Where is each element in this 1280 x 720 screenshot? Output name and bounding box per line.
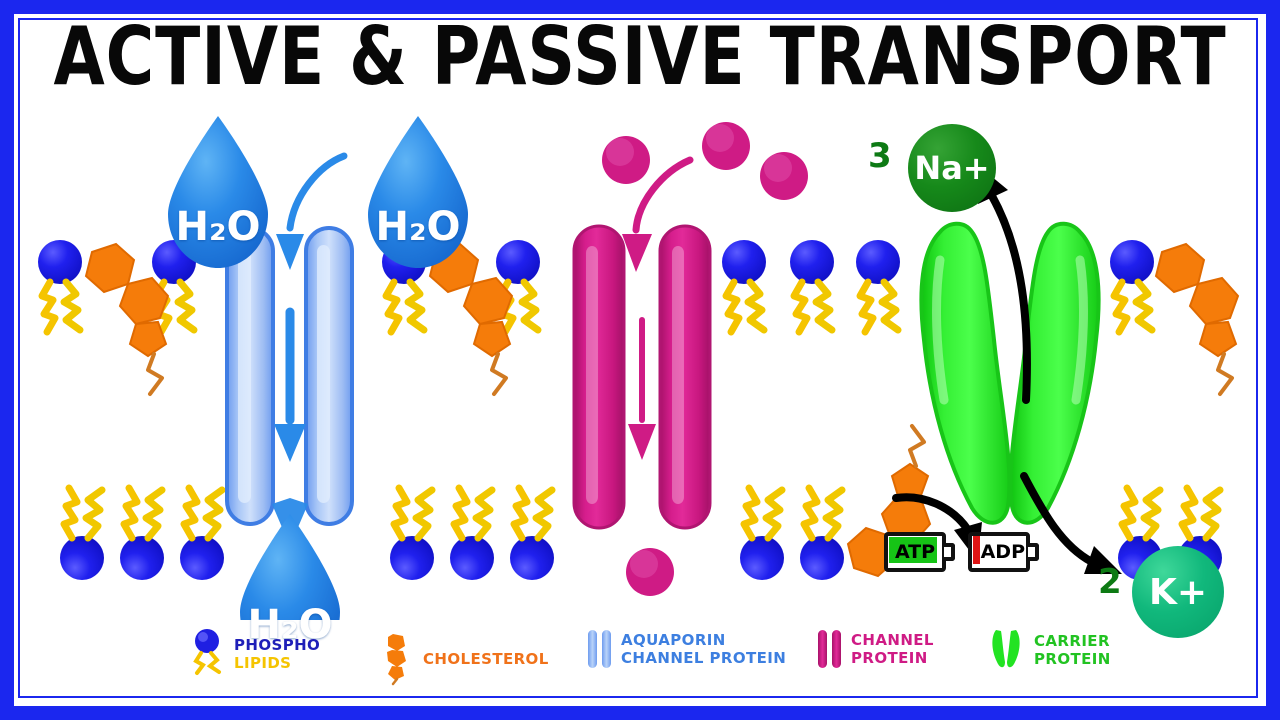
potassium-count: 2 — [1098, 562, 1122, 602]
solute-particles-top — [602, 122, 808, 200]
diagram-root: ACTIVE & PASSIVE TRANSPORT — [0, 0, 1280, 720]
legend: PHOSPHO LIPIDS CHOLESTEROL AQUAPORIN — [22, 622, 1258, 694]
bilayer-midright-upper — [722, 240, 900, 332]
legend-carrier-protein-line2: PROTEIN — [1034, 650, 1111, 668]
water-drop-top-right: H₂O — [363, 162, 473, 302]
bilayer-midright-lower — [740, 488, 844, 580]
aquaporin-icon — [588, 630, 611, 668]
atp-label: ATP — [884, 532, 946, 572]
legend-channel-protein: CHANNEL PROTEIN — [818, 630, 934, 668]
sodium-count: 3 — [868, 136, 892, 176]
legend-channel-protein-line2: PROTEIN — [851, 649, 934, 667]
sodium-ion: Na+ — [908, 124, 996, 212]
channel-protein-icon — [818, 630, 841, 668]
bilayer-midleft-lower — [390, 488, 554, 580]
legend-cholesterol: CHOLESTEROL — [379, 632, 549, 686]
legend-aquaporin: AQUAPORIN CHANNEL PROTEIN — [588, 630, 786, 668]
legend-carrier-protein-line1: CARRIER — [1034, 632, 1111, 650]
solute-particle-bottom — [626, 548, 674, 596]
atp-battery-icon: ATP — [884, 532, 956, 572]
sodium-label: Na+ — [914, 149, 989, 187]
legend-phospholipids: PHOSPHO LIPIDS — [192, 628, 320, 680]
legend-aquaporin-line1: AQUAPORIN — [621, 631, 786, 649]
legend-channel-protein-line1: CHANNEL — [851, 631, 934, 649]
phospholipid-icon — [192, 628, 226, 680]
legend-cholesterol-label: CHOLESTEROL — [423, 650, 549, 668]
legend-phospholipids-line2: LIPIDS — [234, 654, 320, 672]
potassium-label: K+ — [1149, 572, 1207, 613]
legend-phospholipids-line1: PHOSPHO — [234, 636, 320, 654]
water-flow-arrow-middle — [274, 312, 306, 462]
membrane-diagram: H₂O H₂O H₂O 3 Na+ 2 K+ ATP ADP — [22, 100, 1258, 620]
bilayer-right-upper — [1110, 240, 1154, 332]
carrier-protein — [921, 224, 1098, 523]
cholesterol-right-upper — [1156, 244, 1238, 394]
adp-label: ADP — [968, 532, 1030, 572]
legend-carrier-protein: CARRIER PROTEIN — [988, 628, 1111, 672]
adp-battery-icon: ADP — [968, 532, 1040, 572]
page-title: ACTIVE & PASSIVE TRANSPORT — [88, 11, 1192, 101]
legend-aquaporin-line2: CHANNEL PROTEIN — [621, 649, 786, 667]
water-label-top-right: H₂O — [363, 204, 473, 250]
water-drop-top-left: H₂O — [163, 162, 273, 302]
solute-flow-arrow-bottom — [628, 320, 656, 460]
bilayer-left-lower — [60, 488, 224, 580]
cholesterol-icon — [379, 632, 413, 686]
carrier-protein-icon — [988, 628, 1024, 672]
water-label-top-left: H₂O — [163, 204, 273, 250]
